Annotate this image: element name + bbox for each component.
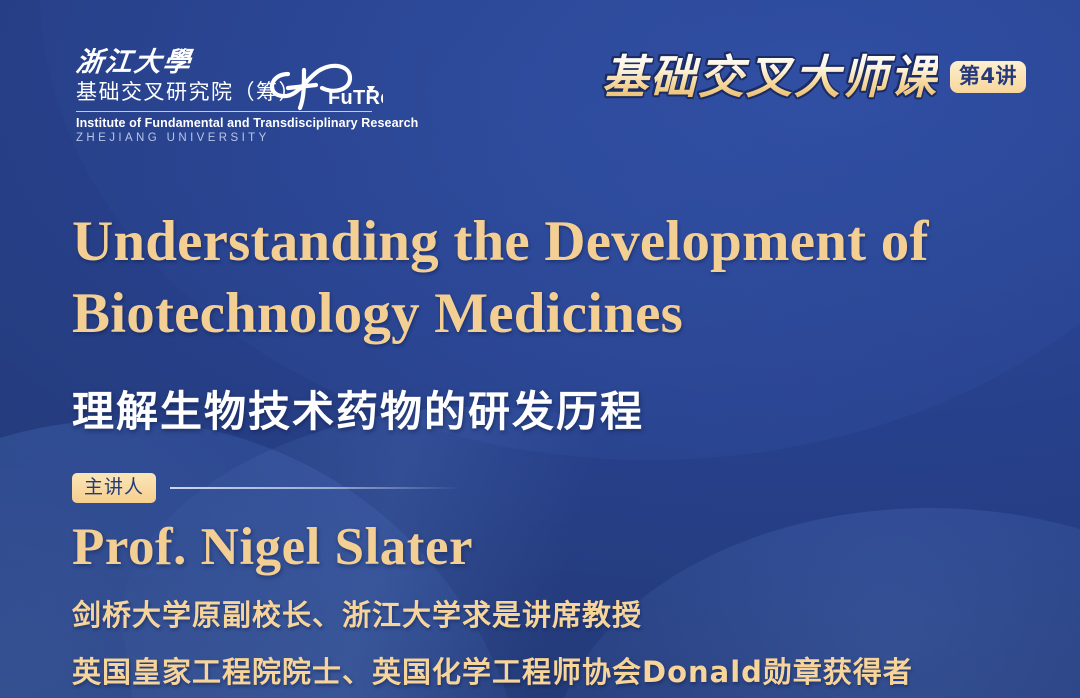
speaker-divider-line <box>170 487 460 489</box>
zju-university-english: ZHEJIANG UNIVERSITY <box>76 132 376 144</box>
futre-wordmark: FuTRe <box>328 87 383 109</box>
speaker-credential: 英国皇家工程院院士、英国化学工程师协会Donald勋章获得者 <box>72 649 1040 691</box>
poster-header: 浙江大學 基础交叉研究院（筹） Institute of Fundamental… <box>0 0 1080 160</box>
chinese-title: 理解生物技术药物的研发历程 <box>72 378 1040 439</box>
speaker-label-row: 主讲人 <box>72 473 1040 504</box>
english-title: Understanding the Development of Biotech… <box>72 206 1022 350</box>
series-title: 基础交叉大师课 <box>602 52 938 102</box>
speaker-tag: 主讲人 <box>72 473 156 504</box>
lecture-poster: 浙江大學 基础交叉研究院（筹） Institute of Fundamental… <box>0 0 1080 698</box>
speaker-credential: 剑桥大学原副校长、浙江大学求是讲席教授 <box>72 592 1040 634</box>
poster-main: Understanding the Development of Biotech… <box>72 206 1040 691</box>
futre-infinity-f-mark-icon: FuTRe <box>258 52 383 120</box>
speaker-name: Prof. Nigel Slater <box>72 517 1040 577</box>
series-title-group: 基础交叉大师课 第4讲 <box>602 52 1026 102</box>
futre-logo: FuTRe <box>258 52 383 120</box>
english-title-line-1: Understanding the Development of <box>72 206 1022 278</box>
series-episode-badge: 第4讲 <box>950 61 1026 93</box>
english-title-line-2: Biotechnology Medicines <box>72 278 1022 350</box>
